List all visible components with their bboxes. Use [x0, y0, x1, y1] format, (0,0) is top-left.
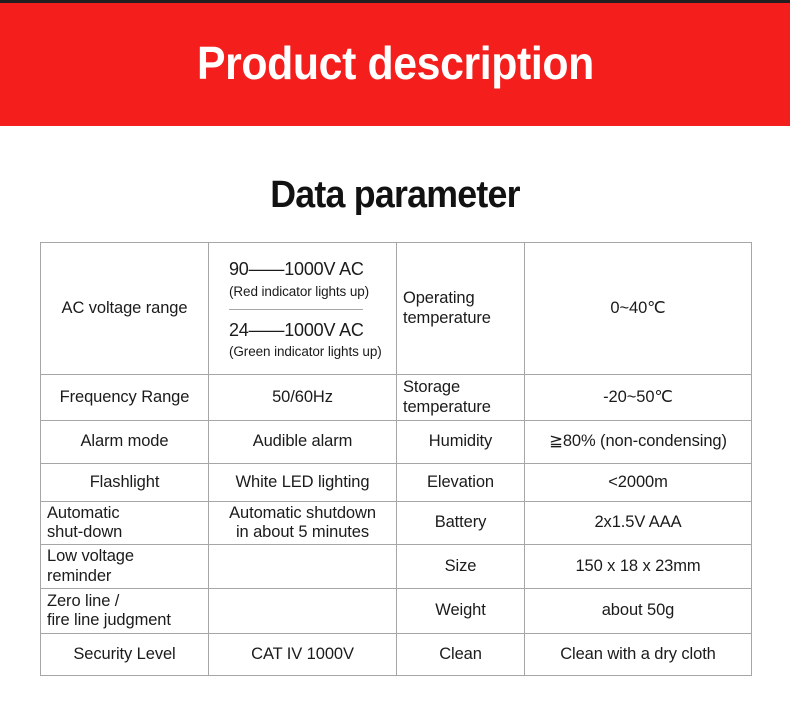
- row-label: Automatic shut-down: [41, 502, 209, 545]
- table-row: AC voltage range 90——1000V AC (Red indic…: [41, 243, 752, 375]
- table-row: Flashlight White LED lighting Elevation …: [41, 464, 752, 502]
- spec-table-container: AC voltage range 90——1000V AC (Red indic…: [40, 242, 751, 676]
- row-label: Security Level: [41, 634, 209, 676]
- row-value: Audible alarm: [209, 421, 397, 464]
- row-value-secondary: about 50g: [525, 589, 752, 634]
- row-label-secondary: Humidity: [397, 421, 525, 464]
- voltage-range-red: 90——1000V AC (Red indicator lights up): [229, 259, 363, 309]
- row-label: Flashlight: [41, 464, 209, 502]
- row-label-secondary: Battery: [397, 502, 525, 545]
- voltage-range-green-main: 24——1000V AC: [229, 320, 386, 341]
- table-row: Security Level CAT IV 1000V Clean Clean …: [41, 634, 752, 676]
- banner-title: Product description: [196, 40, 593, 89]
- table-row: Zero line / fire line judgment Weight ab…: [41, 589, 752, 634]
- row-label: Low voltage reminder: [41, 545, 209, 589]
- row-value-secondary: Clean with a dry cloth: [525, 634, 752, 676]
- table-row: Low voltage reminder Size 150 x 18 x 23m…: [41, 545, 752, 589]
- voltage-range-green-note: (Green indicator lights up): [229, 344, 386, 360]
- row-value: White LED lighting: [209, 464, 397, 502]
- row-value-secondary: -20~50℃: [525, 375, 752, 421]
- data-parameter-table: AC voltage range 90——1000V AC (Red indic…: [40, 242, 752, 676]
- row-value: CAT IV 1000V: [209, 634, 397, 676]
- row-value-secondary: 2x1.5V AAA: [525, 502, 752, 545]
- row-value-voltage-block: 90——1000V AC (Red indicator lights up) 2…: [209, 243, 397, 375]
- row-value-secondary: <2000m: [525, 464, 752, 502]
- row-value: Automatic shutdown in about 5 minutes: [209, 502, 397, 545]
- row-label-secondary: Weight: [397, 589, 525, 634]
- row-label-secondary: Size: [397, 545, 525, 589]
- row-value: 50/60Hz: [209, 375, 397, 421]
- table-row: Automatic shut-down Automatic shutdown i…: [41, 502, 752, 545]
- product-description-banner: Product description: [0, 3, 790, 126]
- row-label: AC voltage range: [41, 243, 209, 375]
- row-value-secondary: 150 x 18 x 23mm: [525, 545, 752, 589]
- voltage-range-green: 24——1000V AC (Green indicator lights up): [229, 310, 386, 360]
- row-label: Zero line / fire line judgment: [41, 589, 209, 634]
- row-value-secondary: 0~40℃: [525, 243, 752, 375]
- row-label-secondary: Clean: [397, 634, 525, 676]
- row-label: Alarm mode: [41, 421, 209, 464]
- row-label-secondary: Operating temperature: [397, 243, 525, 375]
- row-value: [209, 589, 397, 634]
- voltage-range-red-note: (Red indicator lights up): [229, 284, 363, 300]
- row-label: Frequency Range: [41, 375, 209, 421]
- row-value: [209, 545, 397, 589]
- section-title: Data parameter: [24, 176, 767, 214]
- table-row: Frequency Range 50/60Hz Storage temperat…: [41, 375, 752, 421]
- row-value-secondary: ≧80% (non-condensing): [525, 421, 752, 464]
- row-label-secondary: Elevation: [397, 464, 525, 502]
- row-label-secondary: Storage temperature: [397, 375, 525, 421]
- voltage-range-red-main: 90——1000V AC: [229, 259, 363, 280]
- table-row: Alarm mode Audible alarm Humidity ≧80% (…: [41, 421, 752, 464]
